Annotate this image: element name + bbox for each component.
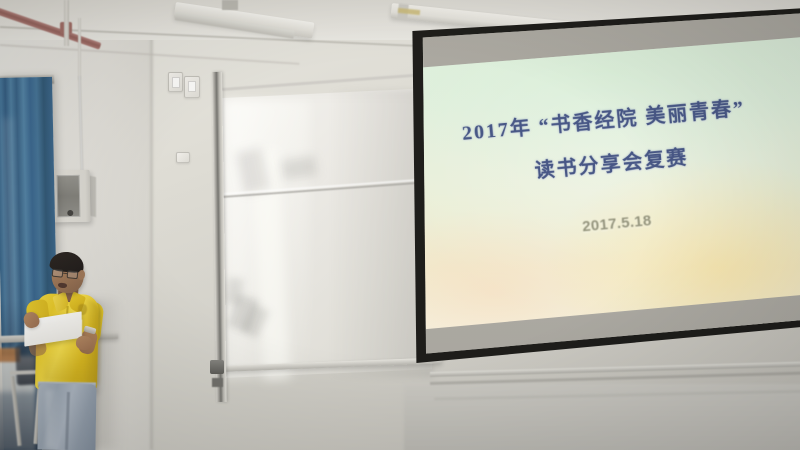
- shirt-fold: [43, 351, 92, 383]
- classroom-photo-scene: 2017年 “书香经院 美丽青春” 读书分享会复赛 2017.5.18: [0, 0, 800, 450]
- eyeglass-lens-left: [52, 269, 64, 278]
- jeans-highlight: [46, 390, 60, 448]
- standing-presenter: [0, 0, 800, 450]
- eyeglass-lens-right: [67, 270, 79, 279]
